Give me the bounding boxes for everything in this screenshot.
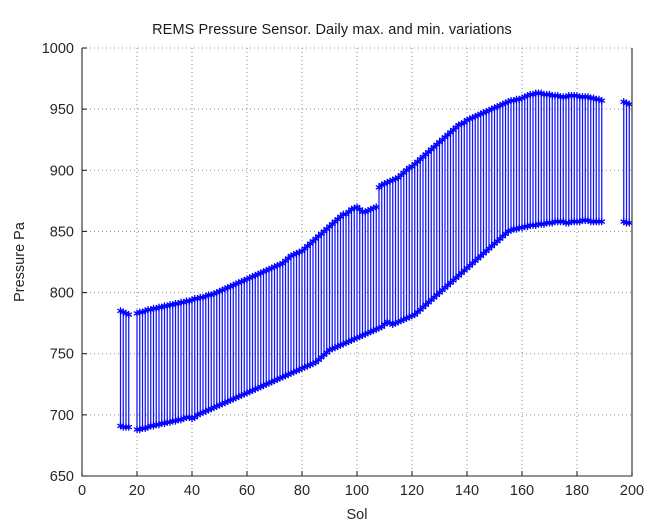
x-tick-label: 120 — [400, 483, 424, 499]
x-tick-label: 180 — [565, 483, 589, 499]
x-tick-label: 60 — [239, 483, 255, 499]
y-axis-title: Pressure Pa — [12, 221, 28, 302]
x-tick-label: 200 — [620, 483, 644, 499]
y-tick-label: 800 — [50, 286, 74, 302]
y-tick-label: 750 — [50, 347, 74, 363]
y-tick-label: 1000 — [42, 41, 74, 57]
range-bars-group — [121, 93, 630, 429]
x-tick-label: 20 — [129, 483, 145, 499]
x-axis-title: Sol — [347, 507, 368, 523]
y-tick-label: 950 — [50, 102, 74, 118]
pressure-plot: 0204060801001201401601802006507007508008… — [0, 0, 664, 531]
x-tick-label: 140 — [455, 483, 479, 499]
y-tick-label: 700 — [50, 408, 74, 424]
y-tick-label: 650 — [50, 469, 74, 485]
x-tick-label: 0 — [78, 483, 86, 499]
y-tick-label: 850 — [50, 224, 74, 240]
x-tick-label: 40 — [184, 483, 200, 499]
y-tick-label: 900 — [50, 163, 74, 179]
x-tick-label: 80 — [294, 483, 310, 499]
x-tick-label: 100 — [345, 483, 369, 499]
x-tick-label: 160 — [510, 483, 534, 499]
figure-panel: REMS Pressure Sensor. Daily max. and min… — [0, 0, 664, 531]
